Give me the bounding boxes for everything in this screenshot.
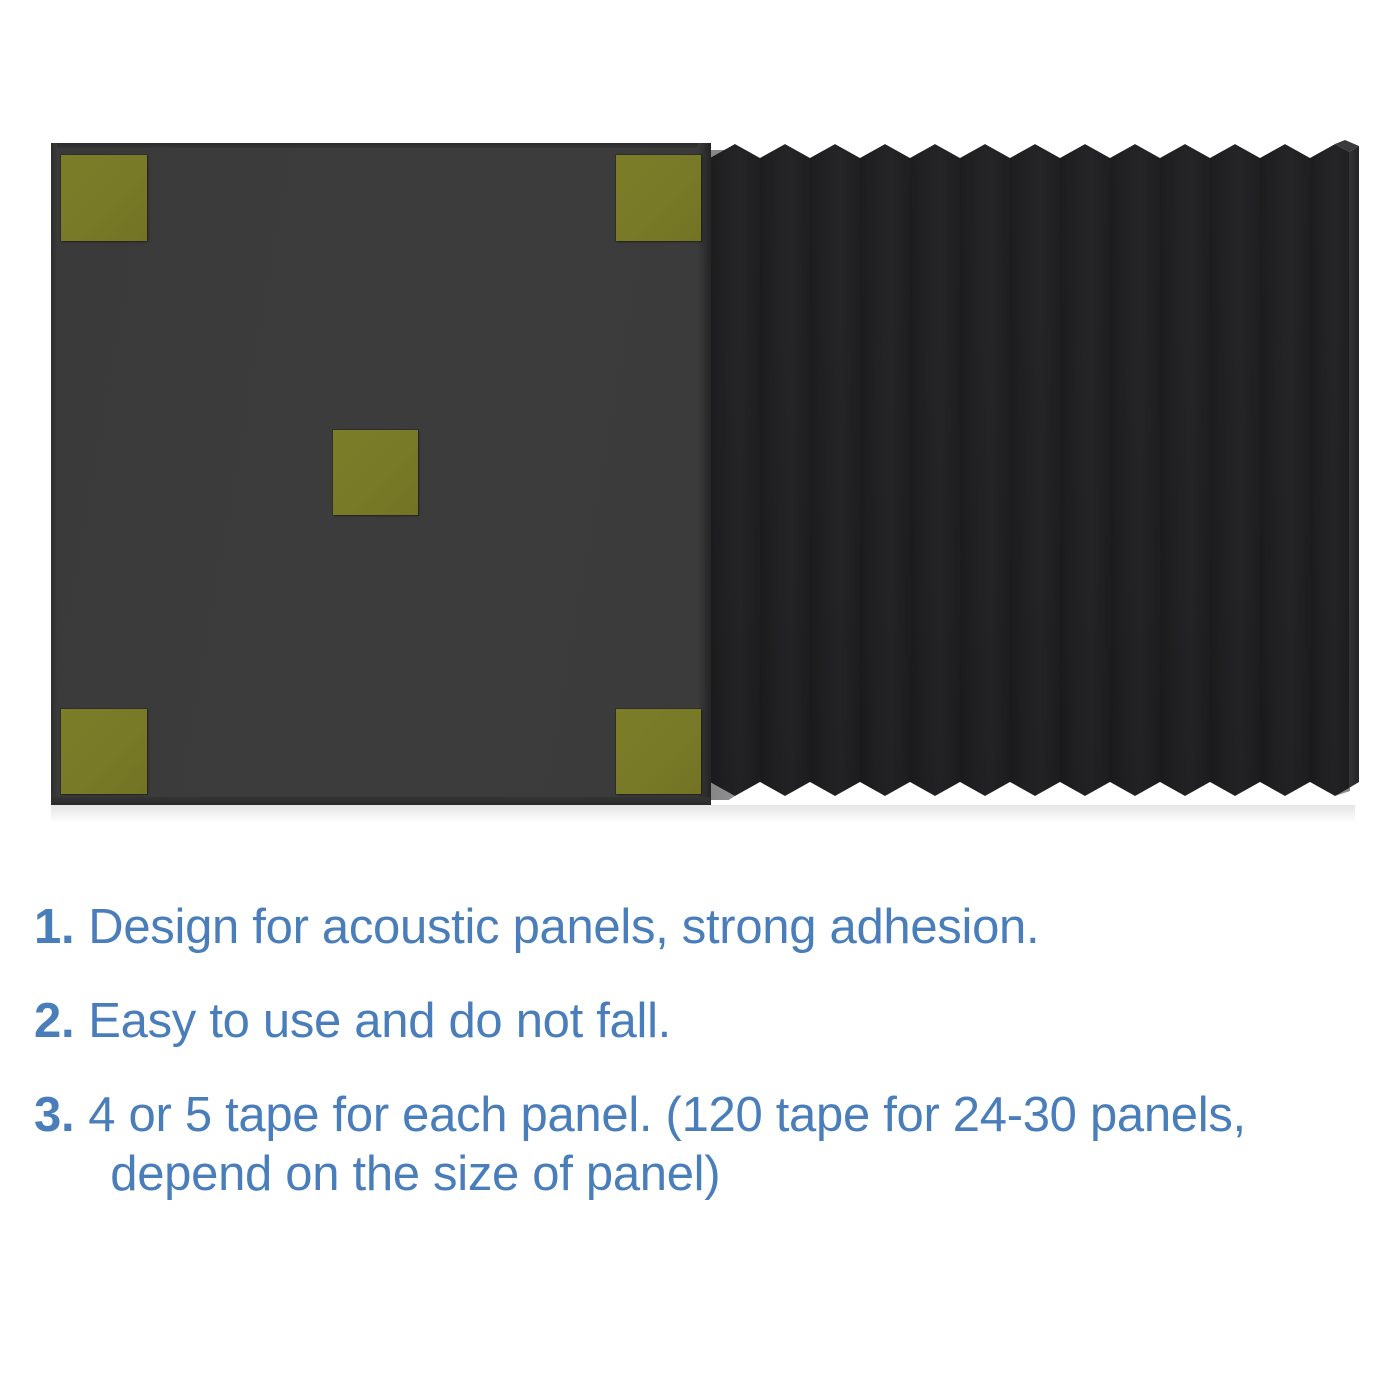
feature-text-3: 4 or 5 tape for each panel. (120 tape fo…: [88, 1086, 1246, 1206]
feature-item-1: 1. Design for acoustic panels, strong ad…: [0, 898, 1400, 958]
feature-item-2: 2. Easy to use and do not fall.: [0, 992, 1400, 1052]
adhesive-tape-center: [333, 430, 418, 515]
feature-number-2: 2.: [34, 992, 74, 1052]
adhesive-tape-top-right: [616, 155, 701, 241]
feature-text-3-line2: depend on the size of panel): [88, 1145, 1246, 1205]
flat-panel-left-edge: [51, 143, 57, 805]
flat-panel-right-edge: [698, 143, 711, 805]
product-illustration: [0, 0, 1400, 880]
adhesive-tape-bottom-left: [61, 709, 147, 794]
feature-number-3: 3.: [34, 1086, 74, 1146]
panel-ground-shadow: [51, 805, 1355, 823]
flat-panel-bottom-edge: [51, 797, 710, 805]
feature-item-3: 3. 4 or 5 tape for each panel. (120 tape…: [0, 1086, 1400, 1206]
feature-text-3-line1: 4 or 5 tape for each panel. (120 tape fo…: [88, 1088, 1246, 1142]
adhesive-tape-bottom-right: [616, 709, 701, 794]
feature-list: 1. Design for acoustic panels, strong ad…: [0, 898, 1400, 1205]
feature-text-2: Easy to use and do not fall.: [88, 992, 671, 1052]
flat-panel-top-edge: [51, 143, 710, 148]
feature-text-1: Design for acoustic panels, strong adhes…: [88, 898, 1039, 958]
wedge-foam-panel: [704, 140, 1359, 812]
feature-number-1: 1.: [34, 898, 74, 958]
adhesive-tape-top-left: [61, 155, 147, 241]
